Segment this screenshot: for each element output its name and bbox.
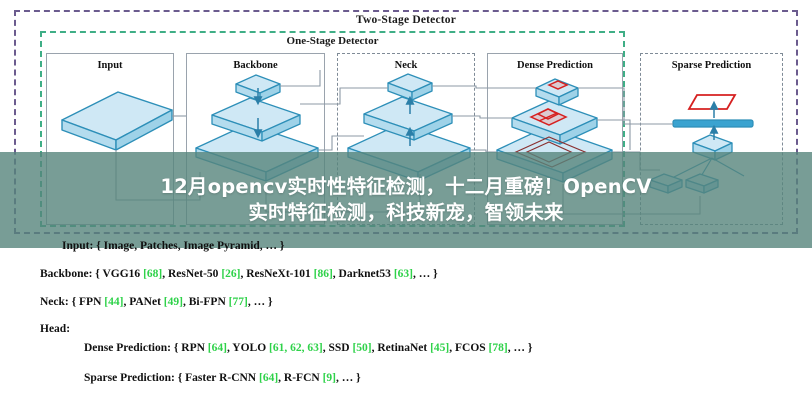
- screenshot-root: Two-Stage Detector One-Stage Detector In…: [0, 0, 812, 400]
- legend-line-neck: Neck: { FPN [44], PANet [49], Bi-FPN [77…: [40, 296, 272, 308]
- legend-value-dense-prediction: { RPN [64], YOLO [61, 62, 63], SSD [50],…: [174, 342, 533, 354]
- legend-value-input: { Image, Patches, Image Pyramid, … }: [96, 240, 284, 252]
- legend-line-backbone: Backbone: { VGG16 [68], ResNet-50 [26], …: [40, 268, 438, 280]
- legend-line-dense-prediction: Dense Prediction: { RPN [64], YOLO [61, …: [84, 342, 532, 354]
- legend-value-backbone: { VGG16 [68], ResNet-50 [26], ResNeXt-10…: [95, 268, 437, 280]
- legend-label-head: Head:: [40, 323, 70, 335]
- overlay-headline-line2: 实时特征检测，科技新宠，智领未来: [248, 200, 563, 226]
- column-title-input: Input: [47, 60, 173, 71]
- legend-label-sparse-prediction: Sparse Prediction:: [84, 372, 175, 384]
- legend-line-head: Head:: [40, 323, 70, 335]
- legend-label-backbone: Backbone:: [40, 268, 92, 280]
- column-title-neck: Neck: [338, 60, 474, 71]
- component-legend: Input: { Image, Patches, Image Pyramid, …: [0, 232, 812, 400]
- column-title-backbone: Backbone: [187, 60, 324, 71]
- one-stage-detector-label: One-Stage Detector: [42, 35, 623, 47]
- legend-value-sparse-prediction: { Faster R-CNN [64], R-FCN [9], … }: [178, 372, 361, 384]
- legend-line-input: Input: { Image, Patches, Image Pyramid, …: [62, 240, 284, 252]
- column-title-dense-prediction: Dense Prediction: [488, 60, 622, 71]
- column-title-sparse-prediction: Sparse Prediction: [641, 60, 782, 71]
- legend-label-dense-prediction: Dense Prediction:: [84, 342, 171, 354]
- legend-value-neck: { FPN [44], PANet [49], Bi-FPN [77], … }: [72, 296, 273, 308]
- legend-label-input: Input:: [62, 240, 93, 252]
- legend-label-neck: Neck:: [40, 296, 69, 308]
- two-stage-detector-label: Two-Stage Detector: [16, 14, 796, 26]
- legend-line-sparse-prediction: Sparse Prediction: { Faster R-CNN [64], …: [84, 372, 361, 384]
- overlay-headline-line1: 12月opencv实时性特征检测，十二月重磅！OpenCV: [160, 174, 651, 200]
- detector-architecture-diagram: Two-Stage Detector One-Stage Detector In…: [0, 0, 812, 250]
